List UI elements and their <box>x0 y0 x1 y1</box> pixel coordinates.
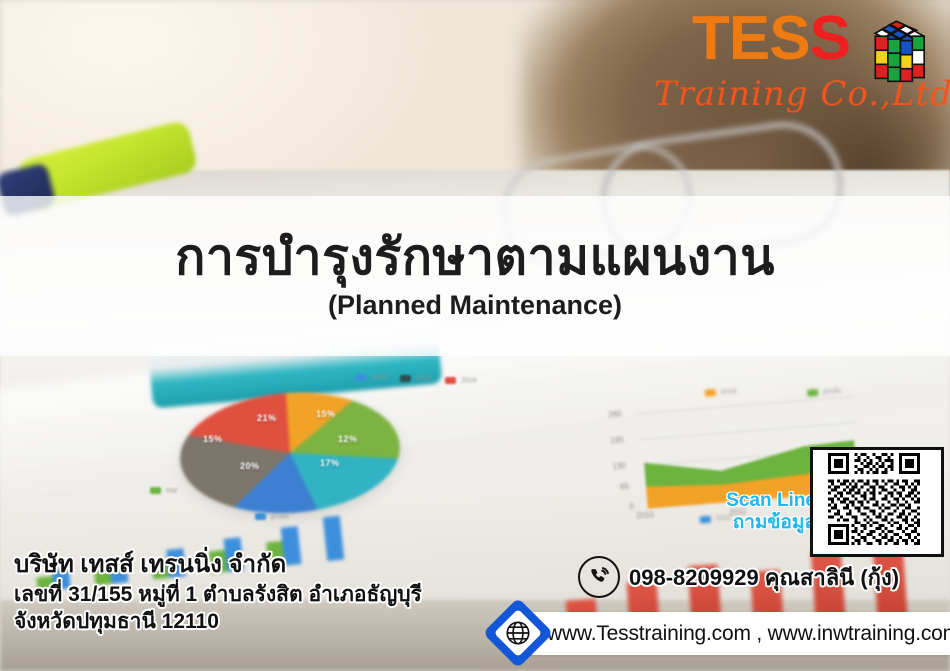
website-urls: www.Tesstraining.com , www.inwtraining.c… <box>547 622 950 646</box>
logo-word-tes: TES <box>692 4 810 73</box>
year-legend-2014: 2014 <box>400 375 432 382</box>
logo-word-s: S <box>810 4 850 73</box>
company-name: บริษัท เทสส์ เทรนนิ่ง จำกัด <box>14 549 484 581</box>
logo-wordmark: TESS <box>660 8 850 70</box>
scan-line-subtext: ถามข้อมูล <box>716 512 816 534</box>
company-address: บริษัท เทสส์ เทรนนิ่ง จำกัด เลขที่ 31/15… <box>14 549 484 636</box>
year-legend-2016: 2016 <box>445 377 477 384</box>
rubiks-cube-icon <box>862 14 936 88</box>
scan-line-text: Scan Line <box>716 490 816 512</box>
year-legend-2012: 2012 <box>355 374 387 381</box>
scan-line-caption: Scan Line ถามข้อมูล <box>716 490 816 535</box>
poster-title-thai: การบำรุงรักษาตามแผนงาน <box>175 231 775 284</box>
phone-number: 098-8209929 คุณสาลินี (กุ้ง) <box>629 560 899 595</box>
address-line-street: เลขที่ 31/155 หมู่ที่ 1 ตำบลรังสิต อำเภอ… <box>14 581 484 609</box>
qr-code-icon[interactable] <box>810 447 944 557</box>
pie-label-blue: 20% <box>240 461 260 471</box>
website-pill[interactable]: www.Tesstraining.com , www.inwtraining.c… <box>513 612 950 655</box>
company-logo: TESS Training Co.,Ltd <box>660 6 942 134</box>
pie-legend-label-0: msr <box>166 487 178 494</box>
area-legend-label-1: produ <box>823 387 841 395</box>
pie-legend-item-0: msr <box>150 487 178 494</box>
pie-label-green: 12% <box>338 434 358 444</box>
phone-contact-row[interactable]: 098-8209929 คุณสาลินี (กุ้ง) <box>578 556 899 598</box>
area-legend-label-0: ernst <box>721 388 737 396</box>
phone-icon <box>578 556 620 598</box>
pie-label-gray: 15% <box>203 434 223 444</box>
address-line-province: จังหวัดปทุมธานี 12110 <box>14 608 484 636</box>
poster-title-english: (Planned Maintenance) <box>328 290 622 321</box>
pie-label-red: 21% <box>257 413 277 423</box>
title-band: การบำรุงรักษาตามแผนงาน (Planned Maintena… <box>0 196 950 356</box>
qr-code-svg <box>813 450 935 548</box>
pie-label-orange: 15% <box>316 409 336 419</box>
pie-label-teal: 17% <box>320 458 340 468</box>
poster-root: 21% 15% 12% 17% 20% 15% msr produ 2012 2… <box>0 0 950 671</box>
